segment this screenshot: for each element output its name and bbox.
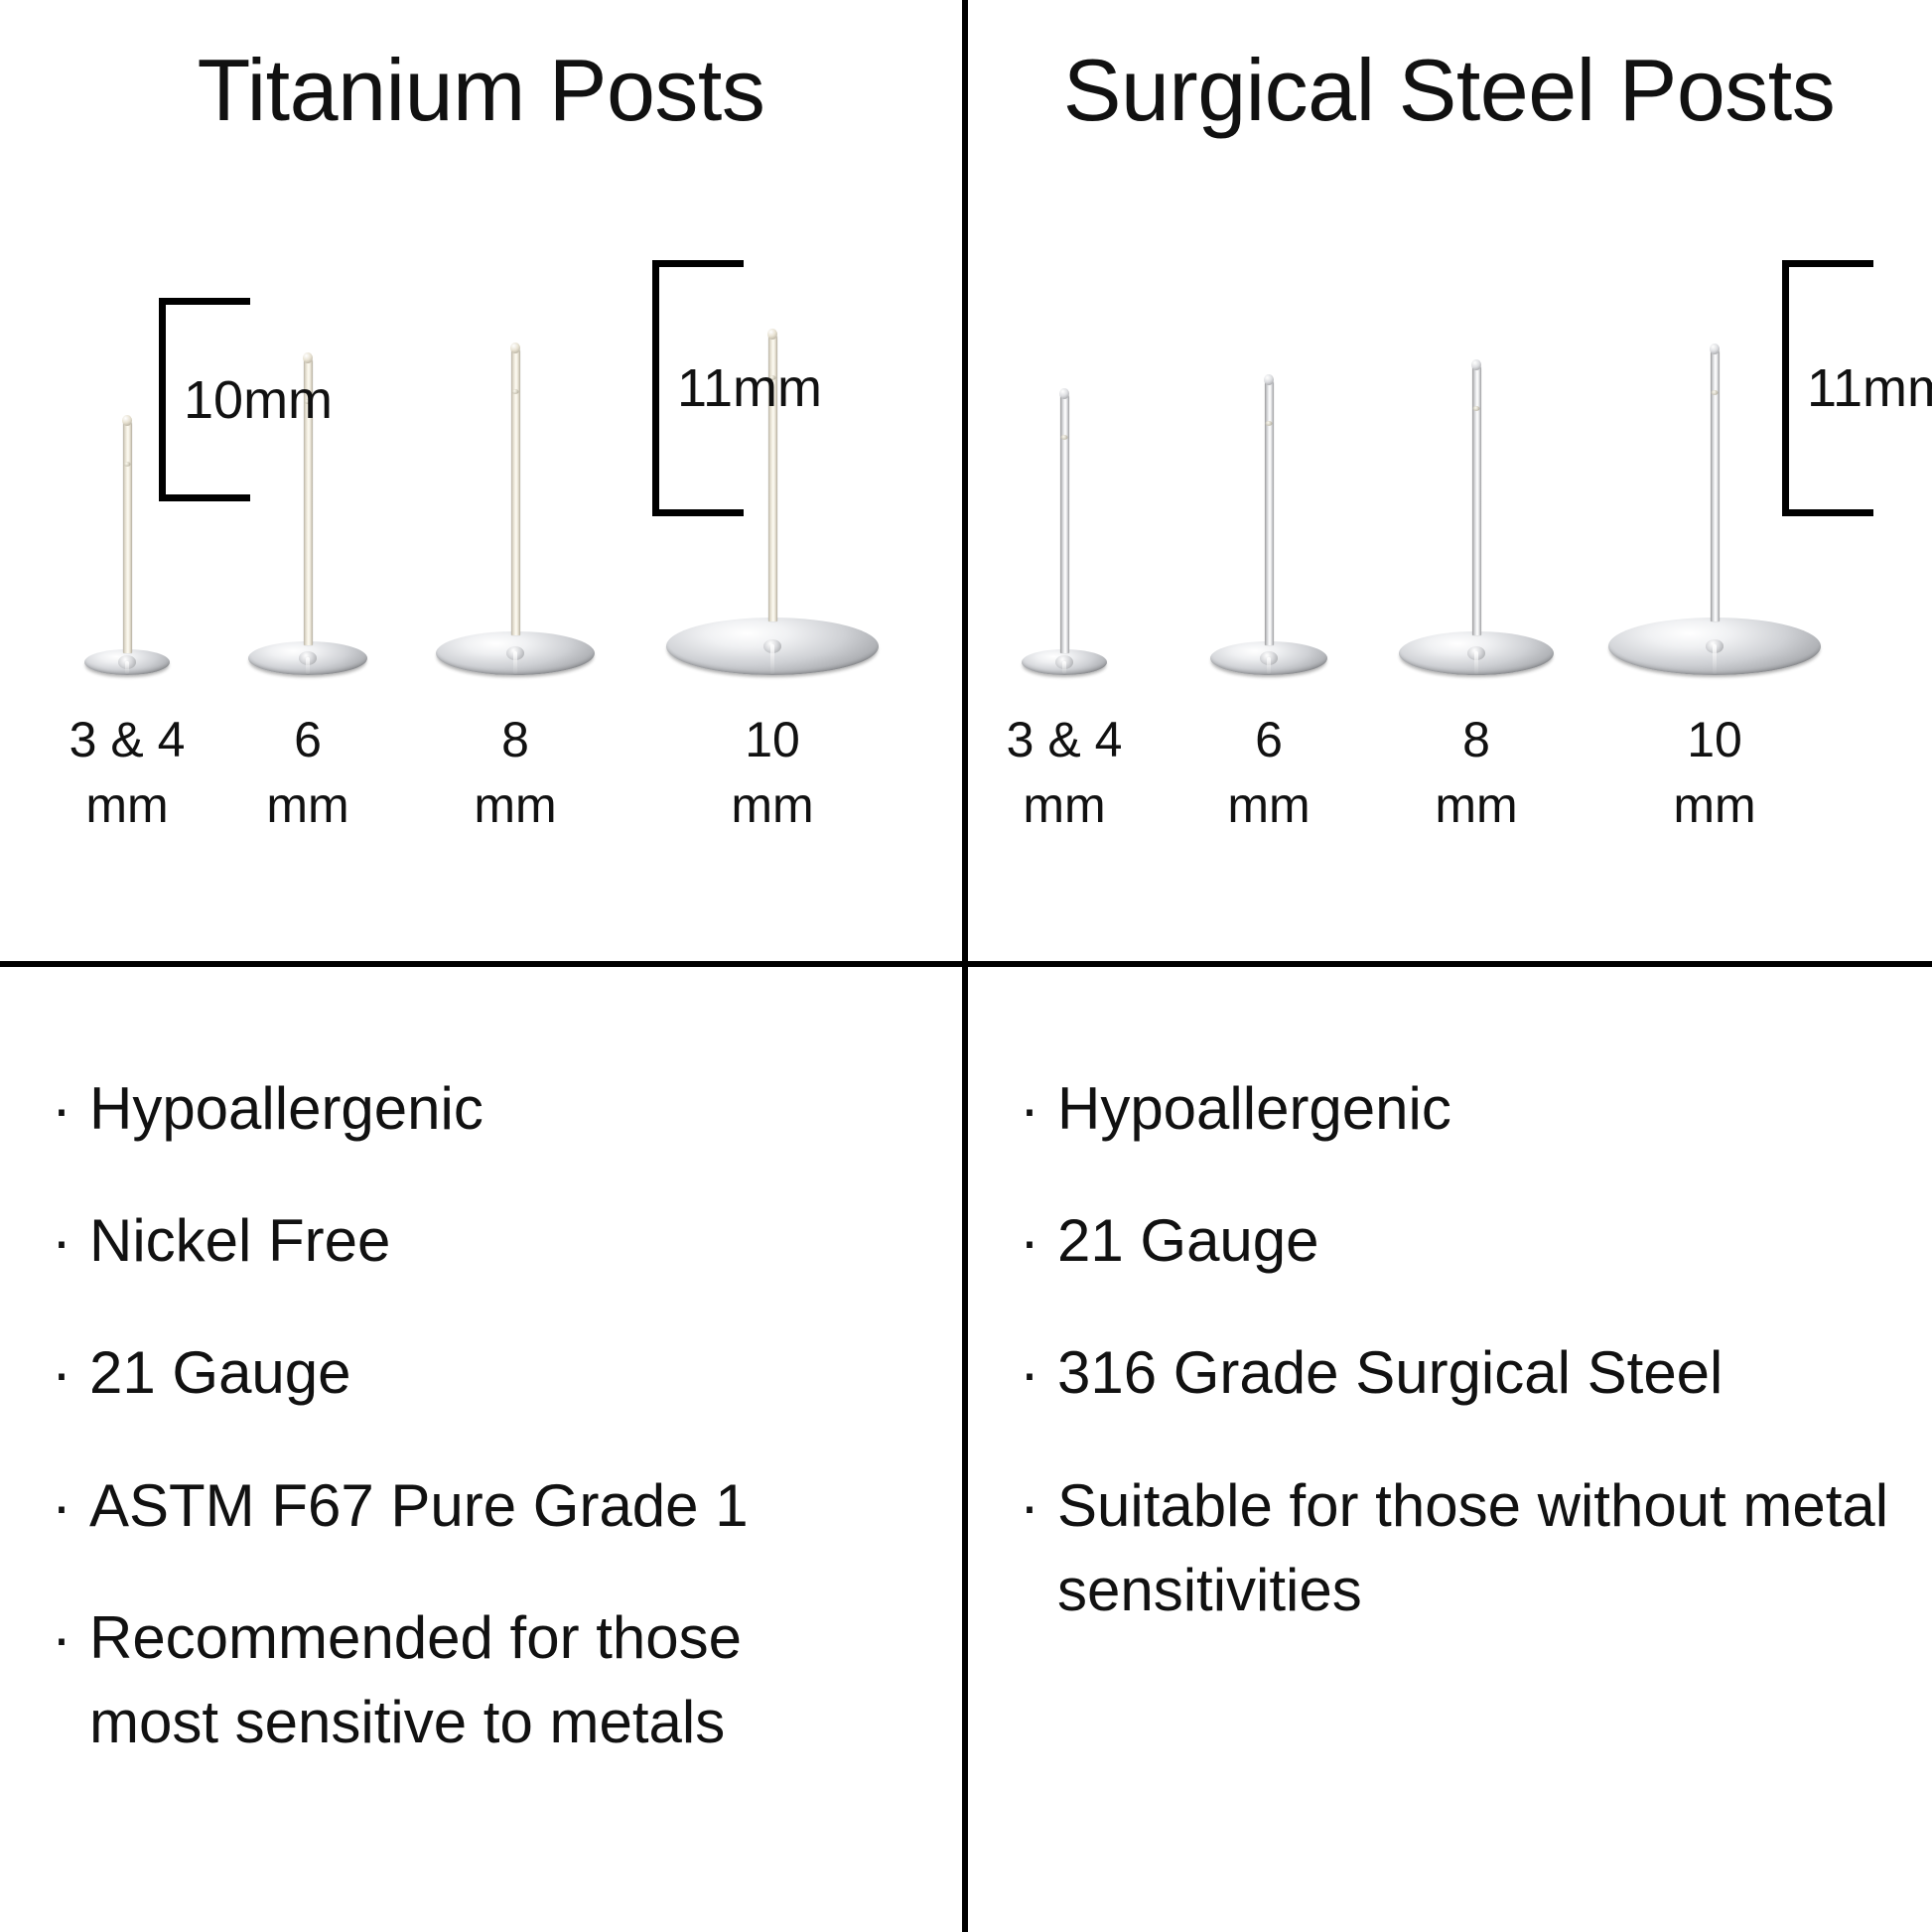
bullet-icon: ·	[1020, 1198, 1039, 1283]
titanium-feature-list: ·Hypoallergenic·Nickel Free·21 Gauge·AST…	[52, 1066, 922, 1812]
post-size-value: 10	[1600, 707, 1829, 772]
post-size-unit: mm	[658, 772, 887, 838]
bracket-cap-top	[652, 260, 744, 267]
titanium-caption-row: 3 & 4mm6mm8mm10mm	[0, 707, 962, 856]
feature-label: Nickel Free	[89, 1198, 884, 1283]
steel-feature-list: ·Hypoallergenic·21 Gauge·316 Grade Surgi…	[1020, 1066, 1890, 1680]
disc-highlight	[770, 644, 774, 674]
bracket-cap-top	[1782, 260, 1873, 267]
post-disc	[1608, 618, 1821, 675]
post-disc	[1210, 641, 1327, 675]
earring-post-specimen	[1399, 364, 1554, 675]
earring-post-specimen	[84, 420, 170, 675]
disc-highlight	[1474, 651, 1478, 674]
post-size-value: 8	[401, 707, 629, 772]
bullet-icon: ·	[52, 1066, 71, 1151]
post-size-value: 6	[194, 707, 422, 772]
post-shaft	[1060, 393, 1069, 653]
post-size-caption: 6mm	[1155, 707, 1383, 838]
steel-panel: Surgical Steel Posts 11mm 3 & 4mm6mm8mm1…	[968, 0, 1930, 961]
bracket-cap-bottom	[1782, 509, 1873, 516]
disc-highlight	[513, 651, 517, 674]
feature-label: ASTM F67 Pure Grade 1	[89, 1463, 884, 1548]
titanium-features-panel: ·Hypoallergenic·Nickel Free·21 Gauge·AST…	[0, 967, 962, 1932]
post-size-unit: mm	[401, 772, 629, 838]
disc-highlight	[306, 657, 310, 675]
bullet-icon: ·	[52, 1198, 71, 1283]
post-shaft	[511, 347, 520, 635]
feature-label: 316 Grade Surgical Steel	[1057, 1330, 1890, 1415]
earring-post-specimen	[436, 347, 595, 675]
earring-post-specimen	[1022, 393, 1107, 675]
titanium-specimen-row: 10mm11mm	[0, 248, 962, 675]
post-disc	[248, 641, 367, 675]
feature-list-item: ·ASTM F67 Pure Grade 1	[52, 1463, 922, 1548]
feature-label: 21 Gauge	[1057, 1198, 1890, 1283]
feature-list-item: ·Suitable for those without metal sensit…	[1020, 1463, 1890, 1632]
post-disc	[436, 631, 595, 675]
post-size-unit: mm	[194, 772, 422, 838]
earring-post-specimen	[1210, 379, 1327, 675]
feature-list-item: ·21 Gauge	[52, 1330, 922, 1415]
disc-highlight	[125, 661, 129, 675]
post-shaft	[1711, 348, 1720, 621]
feature-list-item: ·Hypoallergenic	[52, 1066, 922, 1151]
post-shaft	[123, 420, 132, 653]
feature-label: Hypoallergenic	[89, 1066, 884, 1151]
post-disc	[1399, 631, 1554, 675]
post-shaft	[1265, 379, 1274, 645]
titanium-panel: Titanium Posts 10mm11mm 3 & 4mm6mm8mm10m…	[0, 0, 962, 961]
feature-label: Recommended for those most sensitive to …	[89, 1595, 884, 1764]
bracket-cap-top	[159, 298, 250, 305]
measurement-bracket: 11mm	[1782, 260, 1789, 516]
measurement-label: 11mm	[1807, 357, 1932, 419]
post-size-caption: 10mm	[1600, 707, 1829, 838]
measurement-label: 11mm	[677, 357, 822, 419]
steel-heading: Surgical Steel Posts	[968, 40, 1930, 140]
feature-label: Suitable for those without metal sensiti…	[1057, 1463, 1890, 1632]
measurement-bracket: 10mm	[159, 298, 166, 501]
steel-specimen-row: 11mm	[968, 248, 1930, 675]
post-size-unit: mm	[1155, 772, 1383, 838]
post-disc	[666, 618, 879, 675]
post-size-value: 8	[1362, 707, 1590, 772]
post-size-value: 6	[1155, 707, 1383, 772]
disc-highlight	[1713, 644, 1717, 674]
bullet-icon: ·	[52, 1463, 71, 1548]
feature-list-item: ·316 Grade Surgical Steel	[1020, 1330, 1890, 1415]
measurement-bracket: 11mm	[652, 260, 659, 516]
post-size-caption: 8mm	[1362, 707, 1590, 838]
titanium-heading: Titanium Posts	[0, 40, 962, 140]
feature-list-item: ·21 Gauge	[1020, 1198, 1890, 1283]
steel-caption-row: 3 & 4mm6mm8mm10mm	[968, 707, 1930, 856]
comparison-board: Titanium Posts 10mm11mm 3 & 4mm6mm8mm10m…	[0, 0, 1932, 1932]
post-size-caption: 6mm	[194, 707, 422, 838]
steel-features-panel: ·Hypoallergenic·21 Gauge·316 Grade Surgi…	[968, 967, 1930, 1932]
bracket-cap-bottom	[652, 509, 744, 516]
disc-highlight	[1062, 661, 1066, 675]
feature-list-item: ·Recommended for those most sensitive to…	[52, 1595, 922, 1764]
post-size-unit: mm	[1362, 772, 1590, 838]
bullet-icon: ·	[1020, 1330, 1039, 1415]
feature-label: Hypoallergenic	[1057, 1066, 1890, 1151]
feature-list-item: ·Nickel Free	[52, 1198, 922, 1283]
post-size-caption: 3 & 4mm	[950, 707, 1178, 838]
post-size-value: 3 & 4	[950, 707, 1178, 772]
bracket-cap-bottom	[159, 494, 250, 501]
post-size-caption: 10mm	[658, 707, 887, 838]
bullet-icon: ·	[52, 1330, 71, 1415]
bullet-icon: ·	[1020, 1066, 1039, 1151]
disc-highlight	[1267, 657, 1271, 675]
bullet-icon: ·	[52, 1595, 71, 1680]
measurement-label: 10mm	[184, 369, 333, 431]
post-size-unit: mm	[950, 772, 1178, 838]
feature-list-item: ·Hypoallergenic	[1020, 1066, 1890, 1151]
post-shaft	[1472, 364, 1481, 635]
bullet-icon: ·	[1020, 1463, 1039, 1548]
post-size-unit: mm	[1600, 772, 1829, 838]
feature-label: 21 Gauge	[89, 1330, 884, 1415]
post-size-value: 10	[658, 707, 887, 772]
post-size-caption: 8mm	[401, 707, 629, 838]
